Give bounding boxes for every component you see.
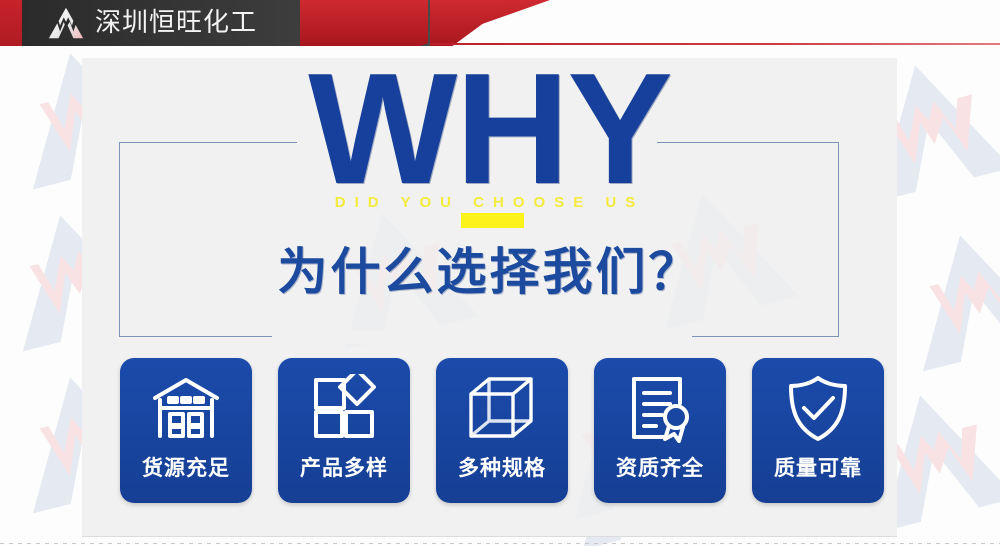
header-red-diagonal — [300, 0, 550, 46]
shapes-icon — [278, 358, 410, 458]
hero-section: WHY DID YOU CHOOSE US 为什么选择我们？ — [82, 58, 897, 348]
feature-card-label: 货源充足 — [142, 458, 230, 479]
aw-monogram-icon — [44, 7, 88, 39]
feature-card-certificates[interactable]: 资质齐全 — [594, 358, 726, 503]
hero-headline-en: WHY — [82, 50, 897, 208]
feature-card-label: 产品多样 — [300, 458, 388, 479]
warehouse-icon — [120, 358, 252, 458]
hero-yellow-bar — [461, 213, 524, 228]
hero-headline-cn: 为什么选择我们？ — [82, 232, 897, 304]
shield-check-icon — [752, 358, 884, 458]
feature-card-supply[interactable]: 货源充足 — [120, 358, 252, 503]
certificate-icon — [594, 358, 726, 458]
aw-monogram-watermark — [887, 214, 1000, 376]
feature-card-label: 多种规格 — [458, 458, 546, 479]
feature-card-list: 货源充足 产品多样 多种规格 — [120, 358, 890, 503]
header-red-rule — [430, 43, 1000, 45]
site-header: 深圳恒旺化工 — [0, 0, 1000, 46]
header-red-accent — [0, 0, 22, 46]
bottom-divider — [0, 543, 1000, 544]
feature-card-quality[interactable]: 质量可靠 — [752, 358, 884, 503]
header-red-diagonal-tip — [430, 0, 555, 46]
brand-name: 深圳恒旺化工 — [95, 6, 257, 40]
frame-gap-bottom — [272, 330, 692, 344]
feature-card-label: 资质齐全 — [616, 458, 704, 479]
feature-card-specs[interactable]: 多种规格 — [436, 358, 568, 503]
page-root: 深圳恒旺化工 WHY DID YOU CHOOSE US 为什么选择我们？ — [0, 0, 1000, 546]
cube-icon — [436, 358, 568, 458]
feature-card-label: 质量可靠 — [774, 458, 862, 479]
hero-subtitle-en: DID YOU CHOOSE US — [82, 194, 897, 211]
feature-card-variety[interactable]: 产品多样 — [278, 358, 410, 503]
